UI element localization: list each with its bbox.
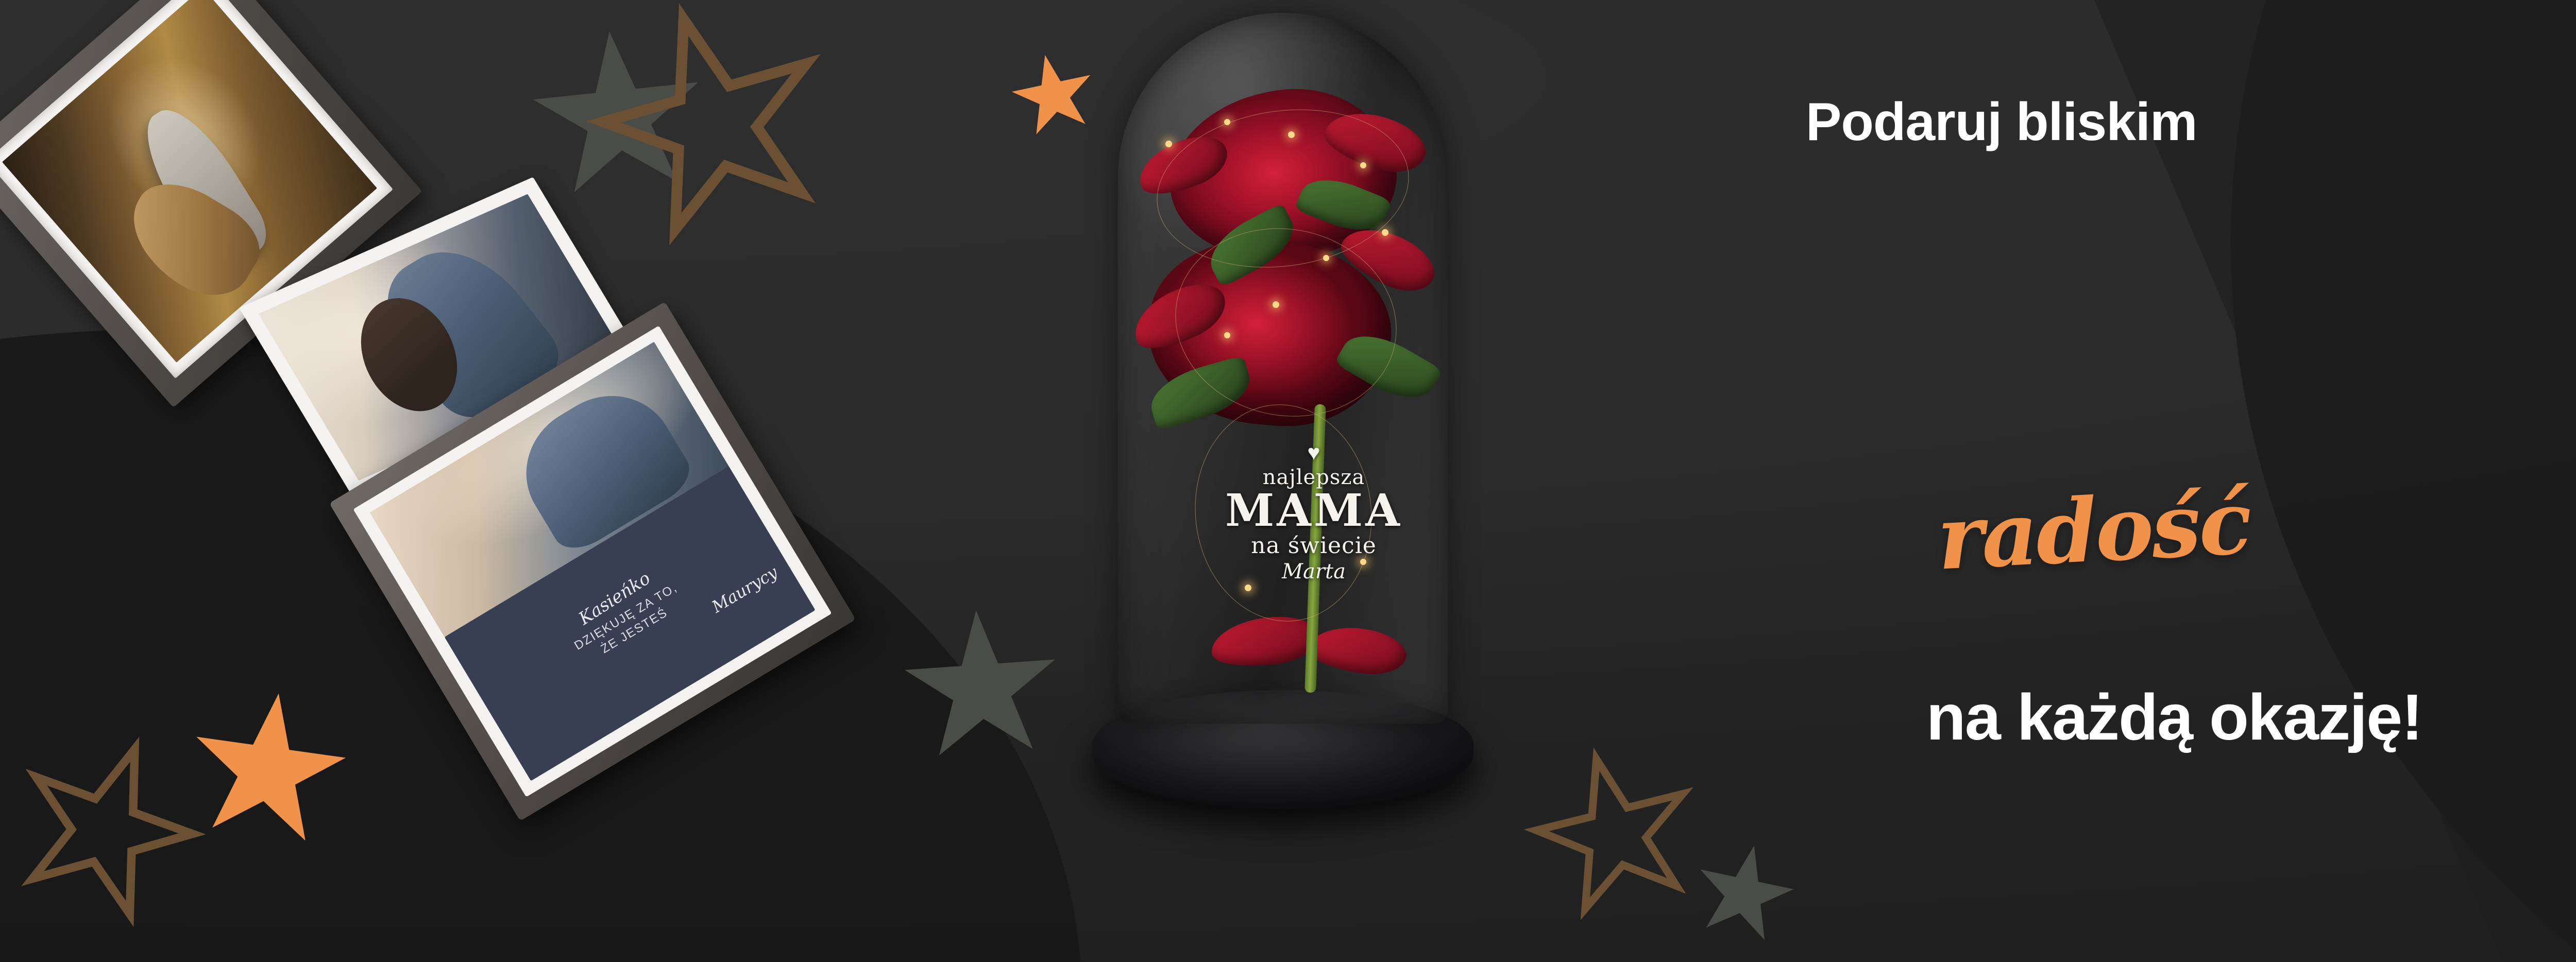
led-light [1245,585,1251,591]
fallen-rose-petal [1208,611,1322,673]
product-photo-box: Kasieńko DZIĘKUJĘ ZA TO, ŻE JESTEŚ Maury… [15,5,804,850]
led-wire [1184,396,1382,630]
rose-dome-glass-cloche: ♥ najlepsza MAMA na świecie Marta [1118,13,1448,724]
banner-copy-block: Podaruj bliskim radość na każdą okazję! [1587,0,2576,962]
led-light [1360,559,1366,565]
led-light [1224,119,1230,125]
led-light [1224,332,1230,338]
headline-bottom: na każdą okazję! [1587,680,2576,754]
led-light [1288,131,1295,138]
led-light [1360,162,1366,168]
led-light [1382,229,1388,236]
product-rose-dome: ♥ najlepsza MAMA na świecie Marta [1056,0,1520,962]
led-light [1323,255,1329,261]
fallen-rose-petal [1306,623,1409,679]
promo-banner: Kasieńko DZIĘKUJĘ ZA TO, ŻE JESTEŚ Maury… [0,0,2576,962]
headline-top: Podaruj bliskim [1806,92,2197,153]
led-light [1165,141,1172,147]
led-light [1273,301,1279,308]
message-card-signature: Maurycy [708,562,781,617]
headline-script-accent: radość [1935,471,2252,590]
